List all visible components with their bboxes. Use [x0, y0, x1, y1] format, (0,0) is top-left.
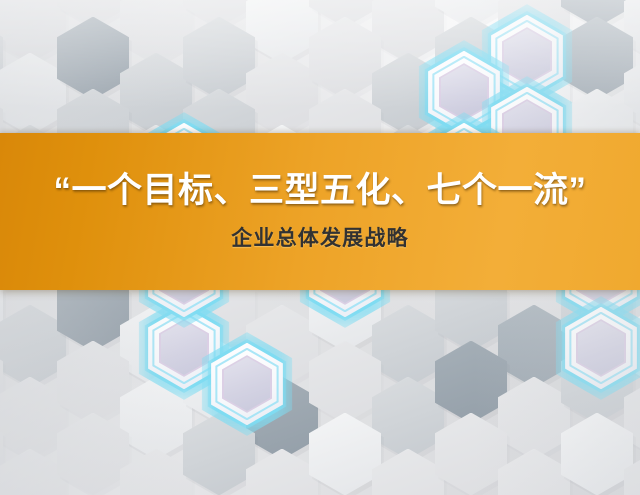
glowing-hexagon	[210, 342, 284, 427]
page-subtitle: 企业总体发展战略	[231, 227, 409, 250]
title-banner: “一个目标、三型五化、七个一流” 企业总体发展战略	[0, 133, 640, 290]
page-title: “一个目标、三型五化、七个一流”	[53, 173, 586, 210]
glowing-hexagon	[564, 306, 638, 391]
slide-canvas: “一个目标、三型五化、七个一流” 企业总体发展战略	[0, 0, 640, 495]
hexagon-tile	[0, 449, 66, 495]
